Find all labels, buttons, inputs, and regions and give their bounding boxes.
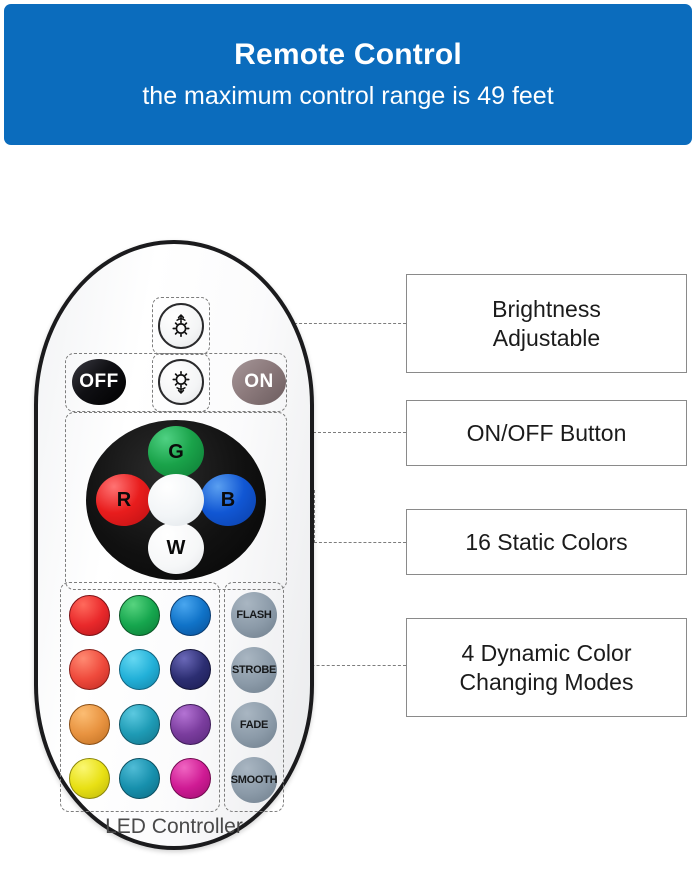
fade-button[interactable]: FADE: [231, 702, 277, 748]
header-banner: Remote Control the maximum control range…: [4, 4, 692, 145]
color-green[interactable]: [119, 595, 160, 636]
color-cell[interactable]: [115, 588, 166, 643]
color-cell[interactable]: [165, 752, 216, 807]
rgb-wheel: G R B W: [86, 420, 266, 580]
color-cell[interactable]: [64, 697, 115, 752]
color-cell[interactable]: [64, 752, 115, 807]
callout-dynamic-modes-line2: Changing Modes: [460, 668, 634, 697]
wheel-green-button[interactable]: G: [148, 426, 204, 478]
brand-label: LED Controller: [34, 815, 314, 839]
color-blue[interactable]: [170, 595, 211, 636]
color-cell[interactable]: [115, 752, 166, 807]
smooth-button[interactable]: SMOOTH: [231, 757, 277, 803]
color-cell[interactable]: [64, 643, 115, 698]
callout-static-colors-line1: 16 Static Colors: [465, 528, 627, 557]
flash-button[interactable]: FLASH: [231, 592, 277, 638]
color-cell[interactable]: [165, 697, 216, 752]
sun-down-icon: [164, 365, 198, 399]
callout-brightness-line2: Adjustable: [492, 324, 601, 353]
color-cell[interactable]: [165, 643, 216, 698]
color-cell[interactable]: [165, 588, 216, 643]
brightness-up-button[interactable]: [158, 303, 204, 349]
off-button[interactable]: OFF: [72, 359, 126, 405]
callout-onoff: ON/OFF Button: [406, 400, 687, 466]
color-cell[interactable]: [115, 643, 166, 698]
color-purple[interactable]: [170, 704, 211, 745]
callout-brightness: Brightness Adjustable: [406, 274, 687, 373]
connector-static-riser: [314, 490, 315, 543]
connector-static-colors: [314, 542, 406, 543]
remote-control: OFF ON G R B W FLASH STROBE FADE SMOOTH …: [34, 240, 314, 850]
color-yellow[interactable]: [69, 758, 110, 799]
brightness-down-button[interactable]: [158, 359, 204, 405]
color-dark-teal[interactable]: [119, 758, 160, 799]
callout-dynamic-modes-line1: 4 Dynamic Color: [460, 639, 634, 668]
callout-static-colors: 16 Static Colors: [406, 509, 687, 575]
callout-brightness-line1: Brightness: [492, 295, 601, 324]
sun-up-icon: [164, 309, 198, 343]
color-teal[interactable]: [119, 704, 160, 745]
callout-dynamic-modes: 4 Dynamic Color Changing Modes: [406, 618, 687, 717]
wheel-white-button[interactable]: W: [148, 522, 204, 574]
color-cyan[interactable]: [119, 649, 160, 690]
color-cell[interactable]: [115, 697, 166, 752]
wheel-center-button[interactable]: [148, 474, 204, 526]
color-red[interactable]: [69, 595, 110, 636]
strobe-button[interactable]: STROBE: [231, 647, 277, 693]
color-grid: [60, 582, 220, 812]
color-magenta[interactable]: [170, 758, 211, 799]
color-coral[interactable]: [69, 649, 110, 690]
banner-subtitle: the maximum control range is 49 feet: [142, 83, 553, 111]
color-cell[interactable]: [64, 588, 115, 643]
banner-title: Remote Control: [234, 38, 462, 71]
color-navy[interactable]: [170, 649, 211, 690]
on-button[interactable]: ON: [232, 359, 286, 405]
callout-onoff-line1: ON/OFF Button: [467, 419, 627, 448]
wheel-red-button[interactable]: R: [96, 474, 152, 526]
wheel-blue-button[interactable]: B: [200, 474, 256, 526]
color-orange[interactable]: [69, 704, 110, 745]
mode-buttons: FLASH STROBE FADE SMOOTH: [224, 582, 284, 812]
